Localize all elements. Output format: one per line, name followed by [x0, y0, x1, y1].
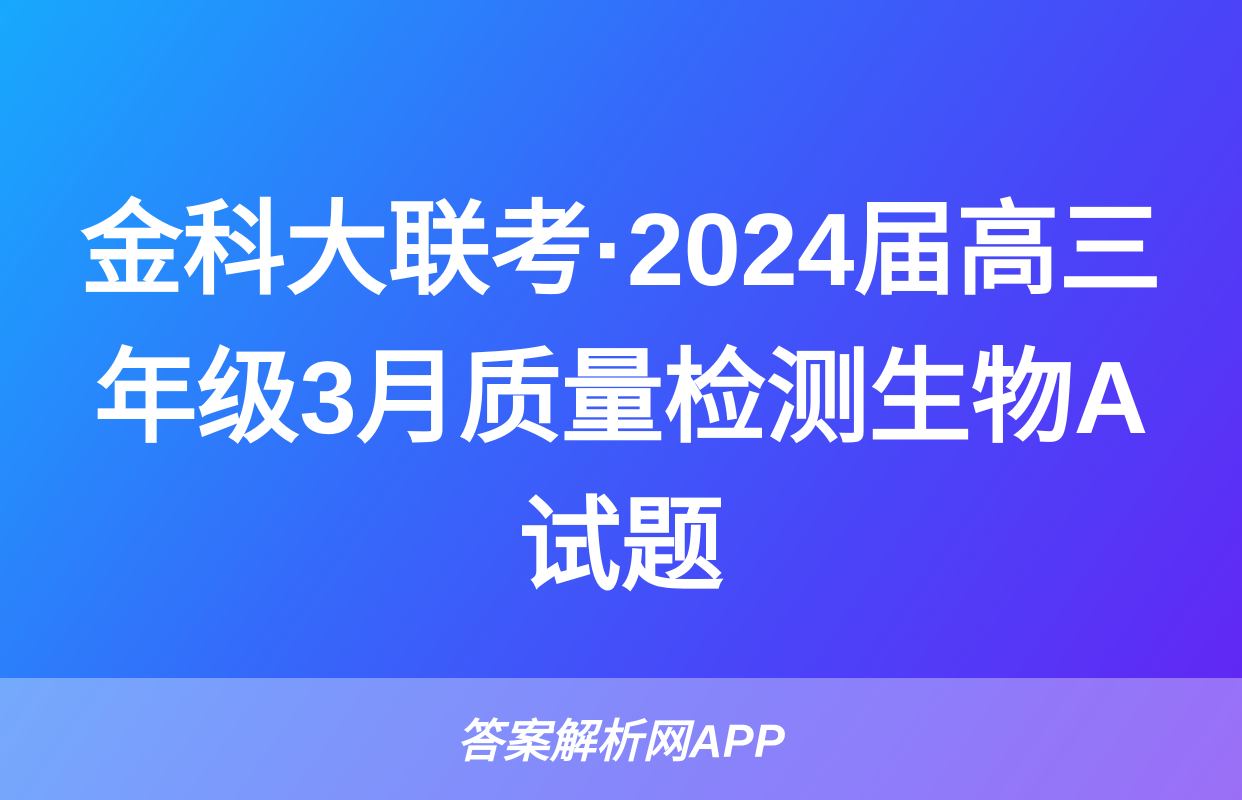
exam-title-card: 金科大联考·2024届高三 年级3月质量检测生物A 试题 答案解析网APP [0, 0, 1242, 800]
title-line-1: 金科大联考·2024届高三 [72, 176, 1170, 324]
title-line-2: 年级3月质量检测生物A [72, 324, 1170, 472]
page-title: 金科大联考·2024届高三 年级3月质量检测生物A 试题 [72, 176, 1170, 620]
title-line-3: 试题 [72, 472, 1170, 620]
footer-watermark-band: 答案解析网APP [0, 678, 1242, 800]
app-watermark-label: 答案解析网APP [457, 718, 786, 764]
